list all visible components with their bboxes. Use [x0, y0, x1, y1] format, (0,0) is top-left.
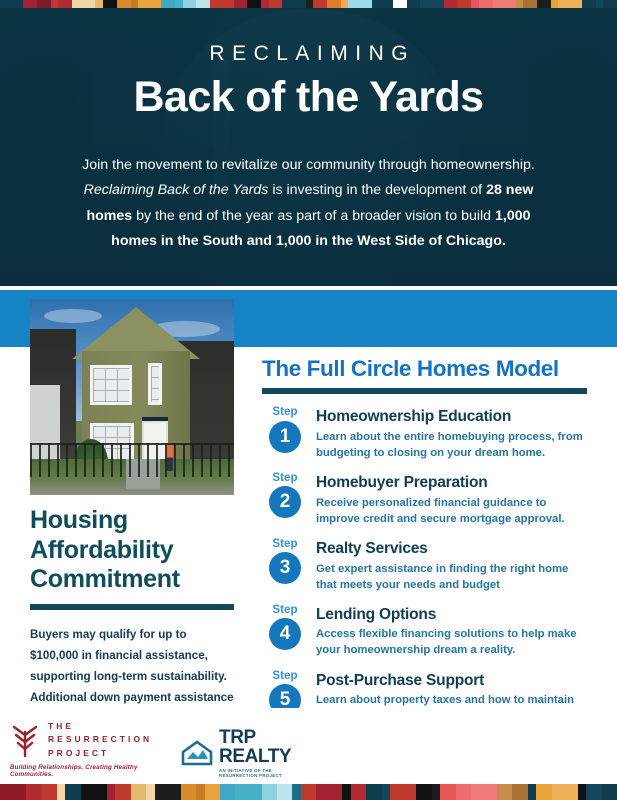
step-item-2: Step2Homebuyer PreparationReceive person… — [262, 472, 592, 527]
stripe-segment — [551, 0, 559, 8]
stripe-segment — [306, 0, 314, 8]
flyer-page: RECLAIMING Back of the Yards Join the mo… — [0, 0, 617, 800]
step-number-circle: 3 — [269, 552, 301, 584]
stripe-segment — [479, 0, 493, 8]
stripe-segment — [552, 784, 578, 800]
stripe-segment — [407, 0, 421, 8]
stripe-segment — [382, 784, 390, 800]
stripe-segment — [493, 0, 516, 8]
stripe-segment — [0, 0, 23, 8]
step-description: Get expert assistance in finding the rig… — [316, 561, 592, 593]
stripe-segment — [181, 784, 196, 800]
stripe-segment — [558, 0, 581, 8]
resurrection-tree-icon — [10, 723, 40, 757]
hero-kicker: RECLAIMING — [55, 42, 562, 66]
stripe-segment — [471, 784, 497, 800]
house-window-upper-right — [148, 363, 162, 405]
stripe-segment — [117, 0, 131, 8]
stripe-segment — [107, 784, 115, 800]
step-heading: Realty Services — [316, 540, 592, 558]
step-badge-1: Step1 — [262, 406, 308, 453]
stripe-segment — [131, 784, 146, 800]
steps-list: Step1Homeownership EducationLearn about … — [262, 406, 592, 724]
stripe-segment — [596, 0, 604, 8]
step-badge-4: Step4 — [262, 604, 308, 651]
stripe-segment — [72, 0, 95, 8]
stripe-segment — [155, 784, 181, 800]
stripe-segment — [292, 784, 300, 800]
logo-the-resurrection-project[interactable]: THE RESURRECTION PROJECT Building Relati… — [10, 720, 175, 778]
hero-text-2: is investing in the development of — [268, 182, 486, 198]
stripe-segment — [351, 784, 366, 800]
trp-realty-house-icon — [180, 739, 214, 767]
step-heading: Lending Options — [316, 606, 592, 624]
stripe-segment — [0, 784, 26, 800]
house-fence — [30, 443, 234, 477]
housing-affordability-title: Housing Affordability Commitment — [30, 506, 234, 595]
stripe-segment — [282, 0, 305, 8]
step-badge-3: Step3 — [262, 538, 308, 585]
step-item-1: Step1Homeownership EducationLearn about … — [262, 406, 592, 461]
resurrection-line-3: PROJECT — [48, 747, 152, 760]
stripe-segment — [81, 784, 107, 800]
stripe-segment — [385, 0, 393, 8]
stripe-segment — [512, 784, 527, 800]
stripe-segment — [497, 784, 512, 800]
full-circle-model-block: The Full Circle Homes Model Step1Homeown… — [262, 356, 592, 735]
stripe-segment — [372, 0, 386, 8]
stripe-segment — [196, 784, 204, 800]
stripe-segment — [277, 784, 292, 800]
stripe-segment — [205, 784, 220, 800]
stripe-segment — [115, 784, 130, 800]
stripe-segment — [175, 0, 183, 8]
model-title: The Full Circle Homes Model — [262, 356, 592, 382]
housing-title-rule — [30, 604, 234, 610]
house-rendering-image — [30, 299, 234, 495]
step-description: Access flexible financing solutions to h… — [316, 626, 592, 658]
step-word-label: Step — [262, 407, 308, 419]
step-word-label: Step — [262, 539, 308, 551]
step-text-1: Homeownership EducationLearn about the e… — [308, 406, 592, 461]
hero-section: RECLAIMING Back of the Yards Join the mo… — [0, 0, 617, 286]
stripe-segment — [269, 0, 283, 8]
stripe-segment — [235, 784, 261, 800]
stripe-segment — [456, 784, 471, 800]
stripe-segment — [262, 784, 277, 800]
stripe-segment — [146, 784, 154, 800]
stripe-segment — [416, 784, 431, 800]
stripe-segment — [420, 0, 443, 8]
resurrection-tagline: Building Relationships. Creating Healthy… — [10, 764, 175, 778]
stripe-segment — [342, 784, 350, 800]
stripe-segment — [51, 0, 59, 8]
stripe-segment — [390, 784, 416, 800]
model-title-rule — [262, 388, 587, 394]
hero-text-1: Join the movement to revitalize our comm… — [82, 157, 535, 173]
stripe-segment — [444, 0, 458, 8]
step-number-circle: 1 — [269, 421, 301, 453]
hero-text-3: by the end of the year as part of a broa… — [132, 208, 495, 224]
stripe-segment — [393, 0, 407, 8]
stripe-segment — [42, 784, 57, 800]
trp-realty-subtitle: AN INITIATIVE OF THE RESURRECTION PROJEC… — [219, 768, 305, 778]
step-text-2: Homebuyer PreparationReceive personalize… — [308, 472, 592, 527]
logo-trp-realty[interactable]: TRP REALTY AN INITIATIVE OF THE RESURREC… — [180, 728, 305, 778]
stripe-segment — [220, 784, 235, 800]
hero-content: RECLAIMING Back of the Yards Join the mo… — [0, 0, 617, 286]
stripe-segment — [316, 784, 342, 800]
resurrection-line-1: THE — [48, 720, 152, 733]
footer-logos: THE RESURRECTION PROJECT Building Relati… — [0, 708, 617, 784]
stripe-segment — [301, 784, 316, 800]
stripe-segment — [523, 0, 537, 8]
step-word-label: Step — [262, 671, 308, 683]
stripe-segment — [261, 0, 269, 8]
stripe-segment — [247, 0, 261, 8]
stripe-segment — [210, 0, 233, 8]
stripe-segment — [313, 0, 327, 8]
stripe-segment — [348, 0, 371, 8]
stripe-segment — [432, 784, 440, 800]
stripe-segment — [537, 0, 551, 8]
step-number-circle: 2 — [269, 486, 301, 518]
step-item-4: Step4Lending OptionsAccess flexible fina… — [262, 604, 592, 659]
stripe-segment — [95, 0, 103, 8]
stripe-segment — [234, 0, 248, 8]
stripe-segment — [138, 0, 161, 8]
stripe-segment — [341, 0, 349, 8]
step-heading: Post-Purchase Support — [316, 672, 592, 690]
stripe-segment — [65, 784, 80, 800]
stripe-segment — [586, 784, 601, 800]
stripe-segment — [602, 784, 617, 800]
trp-realty-name: TRP REALTY — [219, 728, 305, 766]
stripe-segment — [603, 0, 617, 8]
stripe-segment — [103, 0, 117, 8]
stripe-segment — [528, 784, 536, 800]
step-description: Receive personalized financial guidance … — [316, 495, 592, 527]
hero-text-italic: Reclaiming Back of the Yards — [84, 182, 269, 198]
stripe-segment — [26, 784, 41, 800]
step-heading: Homebuyer Preparation — [316, 474, 592, 492]
stripe-segment — [458, 0, 472, 8]
stripe-segment — [440, 784, 455, 800]
stripe-segment — [471, 0, 479, 8]
stripe-segment — [161, 0, 175, 8]
stripe-segment — [582, 0, 596, 8]
stripe-segment — [516, 0, 524, 8]
stripe-segment — [37, 0, 51, 8]
step-text-3: Realty ServicesGet expert assistance in … — [308, 538, 592, 593]
resurrection-line-2: RESURRECTION — [48, 733, 152, 746]
hero-paragraph: Join the movement to revitalize our comm… — [55, 153, 562, 254]
step-number-circle: 4 — [269, 618, 301, 650]
bottom-decorative-stripe — [0, 784, 617, 800]
step-description: Learn about the entire homebuying proces… — [316, 429, 592, 461]
stripe-segment — [57, 784, 65, 800]
stripe-segment — [131, 0, 139, 8]
stripe-segment — [23, 0, 37, 8]
step-text-4: Lending OptionsAccess flexible financing… — [308, 604, 592, 659]
stripe-segment — [58, 0, 72, 8]
step-badge-2: Step2 — [262, 472, 308, 519]
stripe-segment — [327, 0, 341, 8]
step-item-3: Step3Realty ServicesGet expert assistanc… — [262, 538, 592, 593]
house-window-upper-left — [90, 365, 132, 405]
hero-title: Back of the Yards — [55, 75, 562, 120]
step-heading: Homeownership Education — [316, 408, 592, 426]
stripe-segment — [183, 0, 197, 8]
step-word-label: Step — [262, 605, 308, 617]
stripe-segment — [578, 784, 586, 800]
step-word-label: Step — [262, 473, 308, 485]
stripe-segment — [196, 0, 210, 8]
top-decorative-stripe — [0, 0, 617, 8]
stripe-segment — [536, 784, 551, 800]
stripe-segment — [366, 784, 381, 800]
